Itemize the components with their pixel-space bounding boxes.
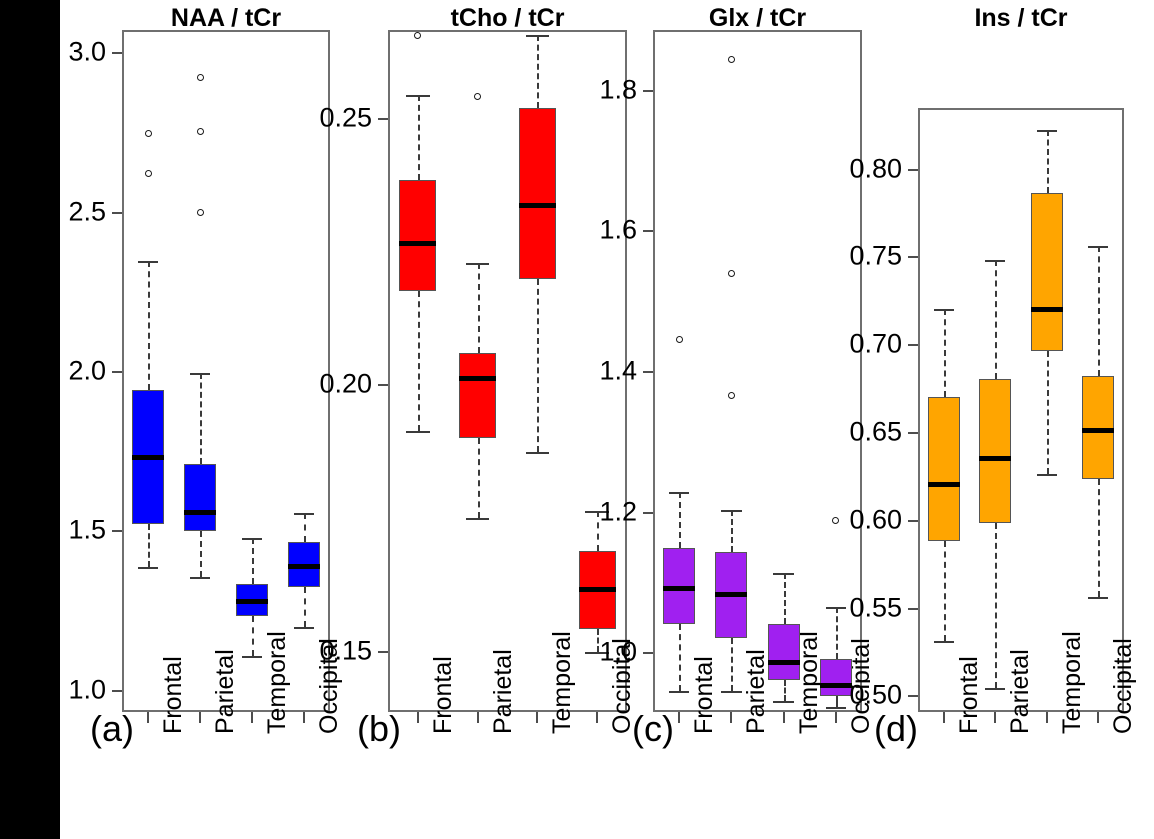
x-axis-label-frontal: Frontal <box>690 656 719 734</box>
whisker-cap-upper <box>406 95 430 97</box>
whisker-cap-upper <box>669 492 689 494</box>
whisker-upper <box>418 95 420 180</box>
y-axis-tick <box>643 90 653 92</box>
y-axis-label: 1.0 <box>503 637 637 668</box>
y-axis-tick <box>112 371 122 373</box>
whisker-lower <box>148 524 150 567</box>
x-axis-label-parietal: Parietal <box>1006 649 1035 734</box>
boxplot-box <box>1031 193 1063 351</box>
y-axis-tick <box>643 371 653 373</box>
x-axis-label-occipital: Occipital <box>1109 638 1138 734</box>
x-axis-tick <box>994 712 996 723</box>
x-axis-tick <box>477 712 479 723</box>
x-axis-tick <box>835 712 837 723</box>
whisker-upper <box>1047 130 1049 193</box>
x-axis-tick <box>1046 712 1048 723</box>
y-axis-tick <box>112 212 122 214</box>
y-axis-label: 0.80 <box>768 153 902 184</box>
y-axis-tick <box>643 230 653 232</box>
y-axis-tick <box>112 530 122 532</box>
boxplot-box <box>519 108 556 279</box>
panel-letter-d: (d) <box>874 708 918 750</box>
x-axis-label-frontal: Frontal <box>429 656 458 734</box>
whisker-cap-upper <box>294 513 314 515</box>
whisker-lower <box>1047 351 1049 474</box>
whisker-lower <box>944 541 946 641</box>
whisker-cap-lower <box>1088 597 1108 599</box>
y-axis-label: 0.75 <box>768 241 902 272</box>
boxplot-box <box>768 624 800 680</box>
y-axis-tick <box>908 608 918 610</box>
panel-b: tCho / tCr0.250.200.15FrontalParietalTem… <box>350 0 630 839</box>
whisker-cap-lower <box>406 431 430 433</box>
x-axis-tick <box>199 712 201 723</box>
boxplot-outlier <box>728 56 735 63</box>
y-axis-label: 0.50 <box>768 680 902 711</box>
y-axis-tick <box>378 384 388 386</box>
y-axis-label: 1.4 <box>503 356 637 387</box>
x-axis-tick <box>943 712 945 723</box>
boxplot-median <box>1082 428 1114 433</box>
whisker-cap-lower <box>669 691 689 693</box>
boxplot-median <box>399 241 436 246</box>
whisker-cap-lower <box>190 577 210 579</box>
boxplot-median <box>768 660 800 665</box>
x-axis-tick <box>417 712 419 723</box>
whisker-upper <box>995 260 997 379</box>
boxplot-outlier <box>145 170 152 177</box>
whisker-cap-lower <box>138 567 158 569</box>
y-axis-label: 0.65 <box>768 416 902 447</box>
boxplot-median <box>288 564 320 569</box>
whisker-lower <box>304 587 306 627</box>
whisker-lower <box>200 531 202 577</box>
whisker-upper <box>944 309 946 397</box>
y-axis-label: 0.55 <box>768 592 902 623</box>
x-axis-tick <box>303 712 305 723</box>
panel-letter-c: (c) <box>632 708 674 750</box>
boxplot-median <box>132 455 164 460</box>
y-axis-label: 1.6 <box>503 215 637 246</box>
whisker-cap-lower <box>721 691 741 693</box>
whisker-lower <box>679 624 681 691</box>
whisker-upper <box>1098 246 1100 376</box>
whisker-cap-upper <box>242 538 262 540</box>
whisker-cap-lower <box>294 627 314 629</box>
whisker-upper <box>200 373 202 464</box>
boxplot-median <box>579 587 616 592</box>
y-axis-label: 1.8 <box>503 74 637 105</box>
whisker-cap-lower <box>526 452 550 454</box>
boxplot-outlier <box>197 209 204 216</box>
whisker-cap-upper <box>1037 130 1057 132</box>
boxplot-median <box>519 203 556 208</box>
boxplot-outlier <box>676 336 683 343</box>
x-axis-tick <box>536 712 538 723</box>
panel-title-c: Glx / tCr <box>653 4 862 33</box>
y-axis-tick <box>908 520 918 522</box>
x-axis-tick <box>147 712 149 723</box>
whisker-lower <box>731 638 733 691</box>
boxplot-box <box>184 464 216 531</box>
y-axis-tick <box>908 169 918 171</box>
y-axis-tick <box>908 432 918 434</box>
y-axis-tick <box>643 652 653 654</box>
whisker-cap-upper <box>934 309 954 311</box>
boxplot-outlier <box>728 392 735 399</box>
whisker-upper <box>148 261 150 390</box>
whisker-cap-lower <box>985 688 1005 690</box>
y-axis-tick <box>908 344 918 346</box>
y-axis-tick <box>908 695 918 697</box>
boxplot-median <box>1031 307 1063 312</box>
x-axis-label-temporal: Temporal <box>1058 631 1087 734</box>
y-axis-label: 1.5 <box>0 515 106 546</box>
boxplot-median <box>715 592 747 597</box>
y-axis-tick <box>112 690 122 692</box>
x-axis-tick <box>251 712 253 723</box>
panel-title-b: tCho / tCr <box>388 4 627 33</box>
whisker-upper <box>478 263 480 354</box>
whisker-cap-upper <box>526 35 550 37</box>
y-axis-tick <box>378 118 388 120</box>
whisker-upper <box>252 538 254 584</box>
y-axis-label: 0.70 <box>768 329 902 360</box>
whisker-lower <box>995 523 997 688</box>
y-axis-label: 1.0 <box>0 674 106 705</box>
y-axis-tick <box>378 651 388 653</box>
whisker-cap-upper <box>190 373 210 375</box>
boxplot-box <box>979 379 1011 523</box>
x-axis-tick <box>596 712 598 723</box>
whisker-cap-upper <box>1088 246 1108 248</box>
whisker-cap-upper <box>773 573 793 575</box>
y-axis-label: 1.2 <box>503 496 637 527</box>
y-axis-label: 0.20 <box>238 369 372 400</box>
boxplot-median <box>459 376 496 381</box>
panel-title-a: NAA / tCr <box>122 4 330 33</box>
boxplot-median <box>184 510 216 515</box>
boxplot-box <box>399 180 436 291</box>
y-axis-label: 2.5 <box>0 196 106 227</box>
boxplot-box <box>459 353 496 437</box>
y-axis-label: 3.0 <box>0 37 106 68</box>
boxplot-median <box>979 456 1011 461</box>
whisker-upper <box>304 513 306 542</box>
boxplot-outlier <box>145 130 152 137</box>
x-axis-tick <box>1097 712 1099 723</box>
whisker-cap-lower <box>466 518 490 520</box>
whisker-upper <box>679 492 681 548</box>
y-axis-label: 0.60 <box>768 504 902 535</box>
whisker-cap-upper <box>985 260 1005 262</box>
x-axis-tick <box>730 712 732 723</box>
boxplot-outlier <box>197 74 204 81</box>
whisker-cap-upper <box>138 261 158 263</box>
whisker-cap-lower <box>1037 474 1057 476</box>
figure-canvas: NAA / tCr3.02.52.01.51.0FrontalParietalT… <box>0 0 1154 839</box>
y-axis-tick <box>908 256 918 258</box>
panel-d: Ins / tCr0.800.750.700.650.600.550.50Fro… <box>870 0 1154 839</box>
y-axis-tick <box>112 52 122 54</box>
panel-letter-b: (b) <box>357 708 401 750</box>
boxplot-box <box>928 397 960 541</box>
boxplot-median <box>663 586 695 591</box>
x-axis-tick <box>783 712 785 723</box>
whisker-lower <box>1098 479 1100 597</box>
whisker-lower <box>478 438 480 518</box>
x-axis-label-parietal: Parietal <box>211 649 240 734</box>
y-axis-label: 0.25 <box>238 102 372 133</box>
y-axis-label: 0.15 <box>238 635 372 666</box>
boxplot-median <box>928 482 960 487</box>
whisker-cap-lower <box>934 641 954 643</box>
whisker-lower <box>418 291 420 431</box>
x-axis-label-frontal: Frontal <box>955 656 984 734</box>
boxplot-median <box>236 599 268 604</box>
y-axis-tick <box>643 512 653 514</box>
panel-title-d: Ins / tCr <box>918 4 1124 33</box>
x-axis-tick <box>678 712 680 723</box>
whisker-cap-upper <box>466 263 490 265</box>
x-axis-label-frontal: Frontal <box>159 656 188 734</box>
whisker-upper <box>731 510 733 552</box>
whisker-cap-upper <box>721 510 741 512</box>
panel-letter-a: (a) <box>90 708 134 750</box>
y-axis-label: 2.0 <box>0 356 106 387</box>
